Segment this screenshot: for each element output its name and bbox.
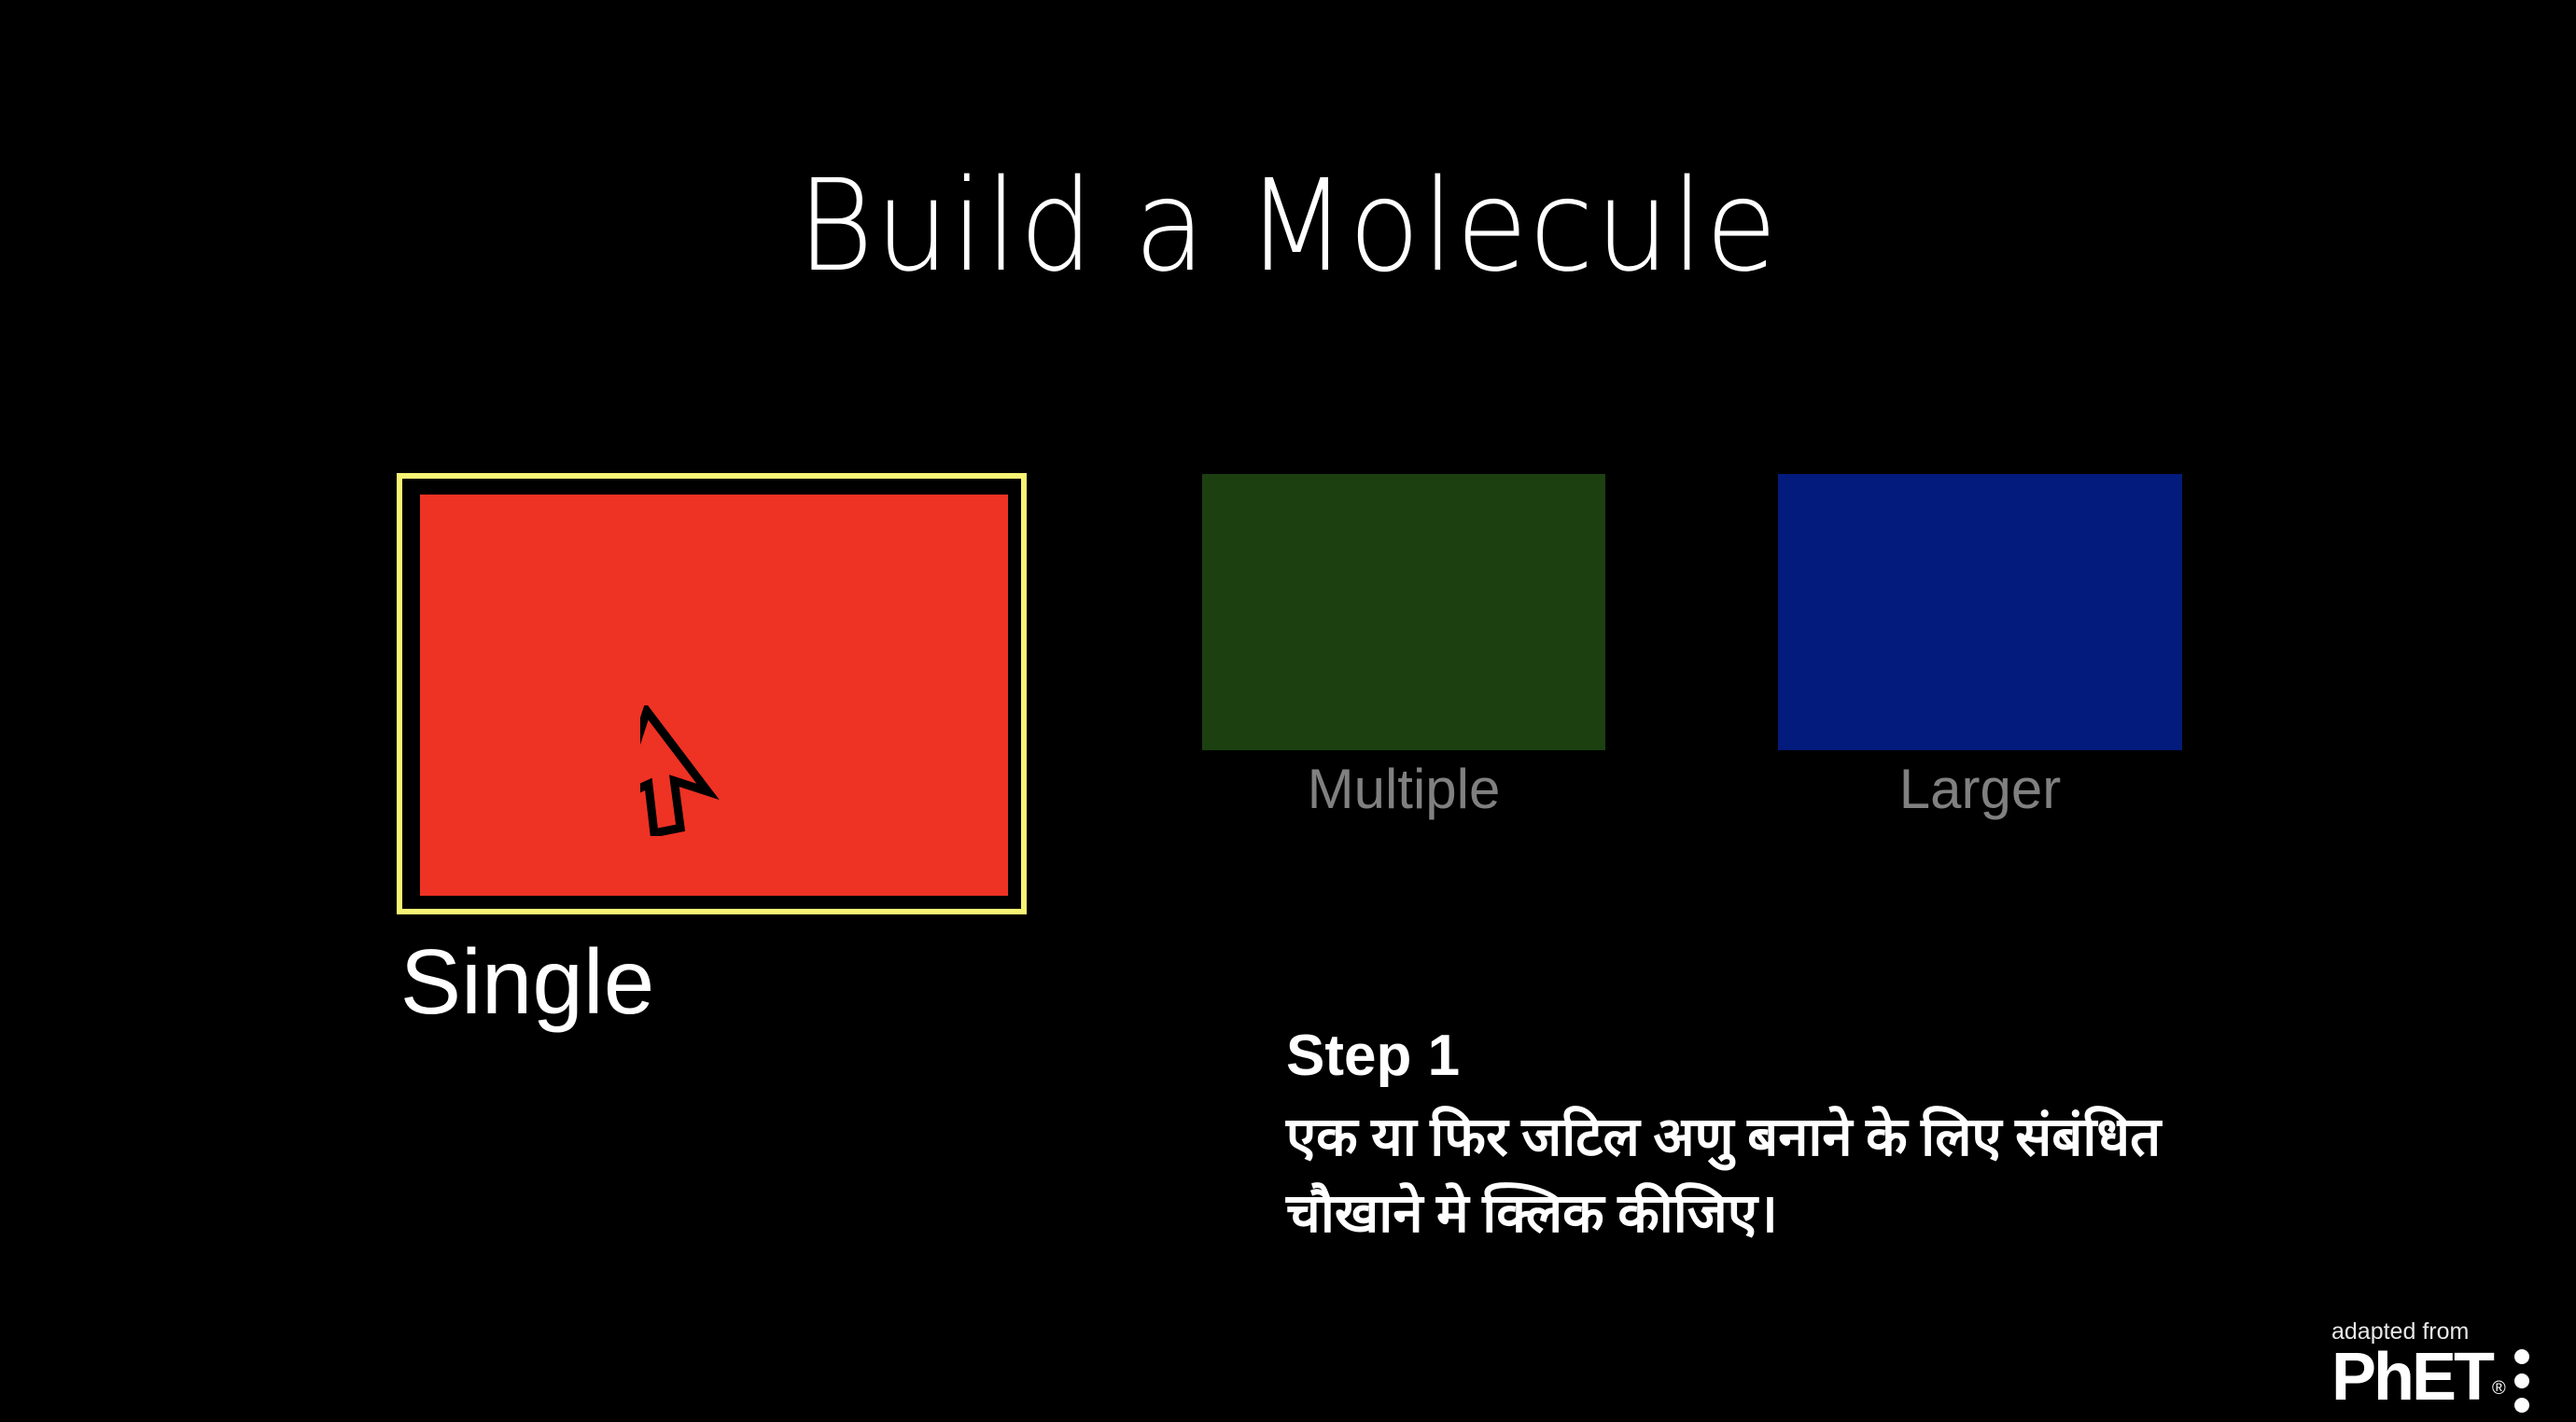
step-heading: Step 1	[1286, 1025, 2425, 1088]
color-swatch-multiple[interactable]	[1202, 474, 1605, 750]
option-card-single[interactable]	[397, 473, 1027, 914]
phet-logo: adapted from PhET®	[2331, 1317, 2565, 1415]
instruction-line-1: एक या फिर जटिल अणु बनाने के लिए संबंधित	[1286, 1099, 2425, 1176]
phet-wordmark: PhET®	[2331, 1344, 2506, 1422]
instruction-line-2: चौखाने मे क्लिक कीजिए।	[1286, 1176, 2425, 1252]
option-label-single: Single	[341, 933, 714, 1030]
page-title: Build a Molecule	[103, 157, 2472, 297]
phet-brand-text: PhET	[2331, 1340, 2492, 1415]
presentation-slide: Build a Molecule Single Multiple Larger …	[0, 0, 2576, 1418]
option-label-larger: Larger	[1778, 758, 2182, 821]
color-swatch-single[interactable]	[420, 495, 1008, 896]
option-label-multiple: Multiple	[1202, 758, 1605, 821]
instruction-block: Step 1 एक या फिर जटिल अणु बनाने के लिए स…	[1286, 1025, 2425, 1252]
registered-trademark-icon: ®	[2492, 1378, 2506, 1399]
option-card-multiple[interactable]	[1202, 474, 1605, 750]
phet-dots-icon	[2514, 1349, 2533, 1415]
option-card-larger[interactable]	[1778, 474, 2182, 750]
phet-dot	[2514, 1373, 2529, 1388]
color-swatch-larger[interactable]	[1778, 474, 2182, 750]
phet-dot	[2514, 1349, 2529, 1364]
phet-dot	[2514, 1398, 2529, 1413]
